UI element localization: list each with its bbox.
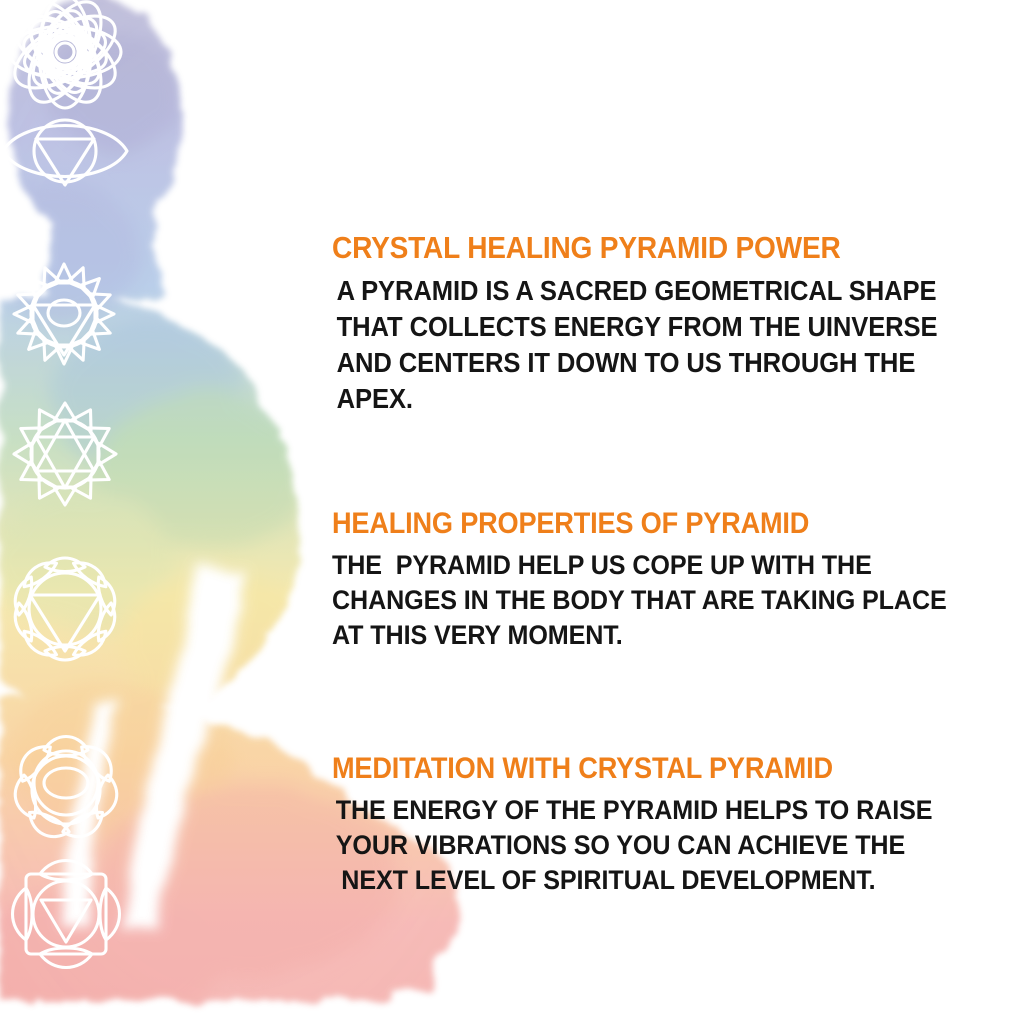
third-eye-chakra-icon [3, 120, 127, 185]
body-line: YOUR VIBRATIONS SO YOU CAN ACHIEVE THE [336, 828, 976, 863]
block-body: THE ENERGY OF THE PYRAMID HELPS TO RAISE… [332, 793, 976, 898]
block-body: A PYRAMID IS A SACRED GEOMETRICAL SHAPE … [332, 273, 976, 416]
crown-chakra-icon [4, 0, 127, 113]
root-chakra-symbol [0, 856, 132, 972]
heart-chakra-symbol [0, 398, 130, 510]
solar-plexus-chakra-icon [10, 556, 119, 662]
content-block-meditation-with-crystal-pyramid: MEDITATION WITH CRYSTAL PYRAMID THE ENER… [332, 753, 1024, 899]
body-line: THE ENERGY OF THE PYRAMID HELPS TO RAISE [336, 793, 976, 828]
body-line: AND CENTERS IT DOWN TO US THROUGH THE [337, 345, 976, 381]
body-line: THE PYRAMID HELP US COPE UP WITH THE [332, 548, 976, 583]
body-line: A PYRAMID IS A SACRED GEOMETRICAL SHAPE [337, 273, 976, 309]
body-line: NEXT LEVEL OF SPIRITUAL DEVELOPMENT. [336, 863, 976, 898]
chakra-symbol-column [0, 0, 130, 1024]
solar-plexus-chakra-symbol [0, 553, 130, 665]
block-heading: HEALING PROPERTIES OF PYRAMID [332, 508, 969, 539]
root-chakra-icon [13, 861, 120, 968]
sacral-chakra-symbol [0, 730, 132, 846]
body-line: APEX. [337, 381, 976, 417]
infographic-poster: CRYSTAL HEALING PYRAMID POWER A PYRAMID … [0, 0, 1024, 1024]
body-line: CHANGES IN THE BODY THAT ARE TAKING PLAC… [332, 583, 976, 618]
content-block-healing-properties-of-pyramid: HEALING PROPERTIES OF PYRAMID THE PYRAMI… [332, 508, 1024, 654]
block-heading: MEDITATION WITH CRYSTAL PYRAMID [332, 753, 969, 784]
content-block-crystal-healing-pyramid-power: CRYSTAL HEALING PYRAMID POWER A PYRAMID … [332, 232, 1024, 416]
text-content-column: CRYSTAL HEALING PYRAMID POWER A PYRAMID … [332, 0, 1024, 1024]
crown-chakra-symbol [0, 0, 130, 106]
third-eye-chakra-symbol [0, 98, 130, 204]
body-line: AT THIS VERY MOMENT. [332, 618, 976, 653]
block-heading: CRYSTAL HEALING PYRAMID POWER [332, 232, 969, 264]
throat-chakra-symbol [0, 258, 128, 370]
heart-chakra-icon [14, 403, 116, 505]
sacral-chakra-icon [11, 737, 121, 844]
body-line: THAT COLLECTS ENERGY FROM THE UINVERSE [337, 309, 976, 345]
block-body: THE PYRAMID HELP US COPE UP WITH THE CHA… [332, 548, 976, 653]
throat-chakra-icon [14, 264, 114, 364]
